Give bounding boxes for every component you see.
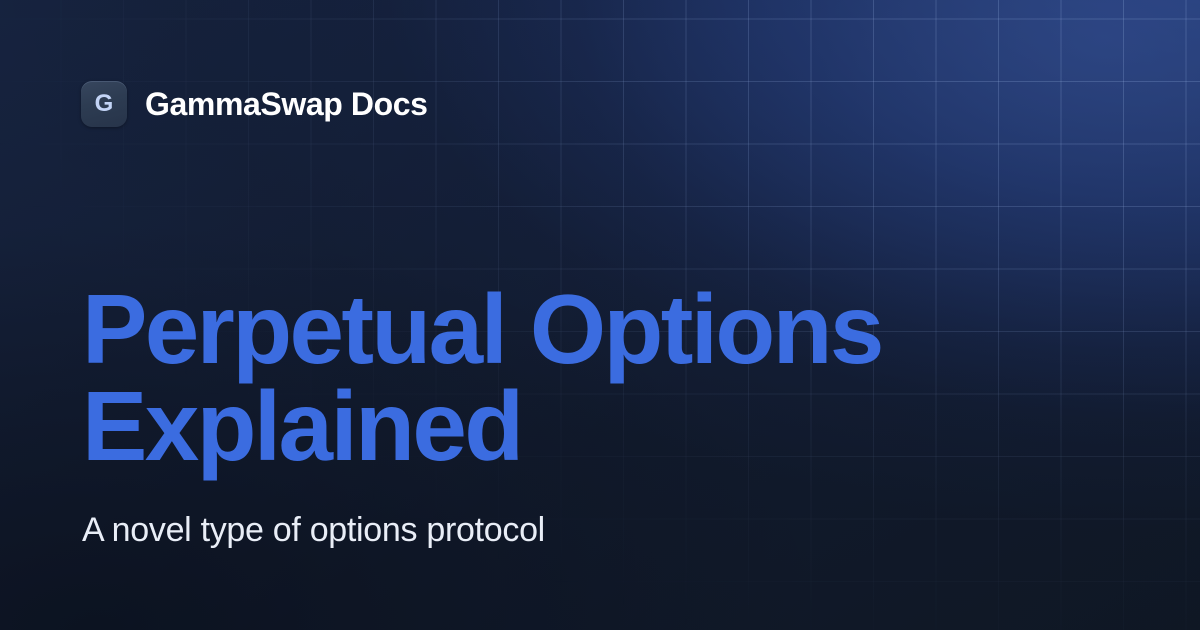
page-title: Perpetual Options Explained [82,281,1092,475]
brand-name: GammaSwap Docs [145,88,428,120]
brand-lockup[interactable]: G GammaSwap Docs [81,81,428,127]
page-subtitle: A novel type of options protocol [82,509,545,551]
og-card: G GammaSwap Docs Perpetual Options Expla… [0,0,1200,630]
card-content: G GammaSwap Docs Perpetual Options Expla… [0,0,1200,630]
gammaswap-logo-icon: G [81,81,127,127]
logo-letter: G [95,92,114,116]
